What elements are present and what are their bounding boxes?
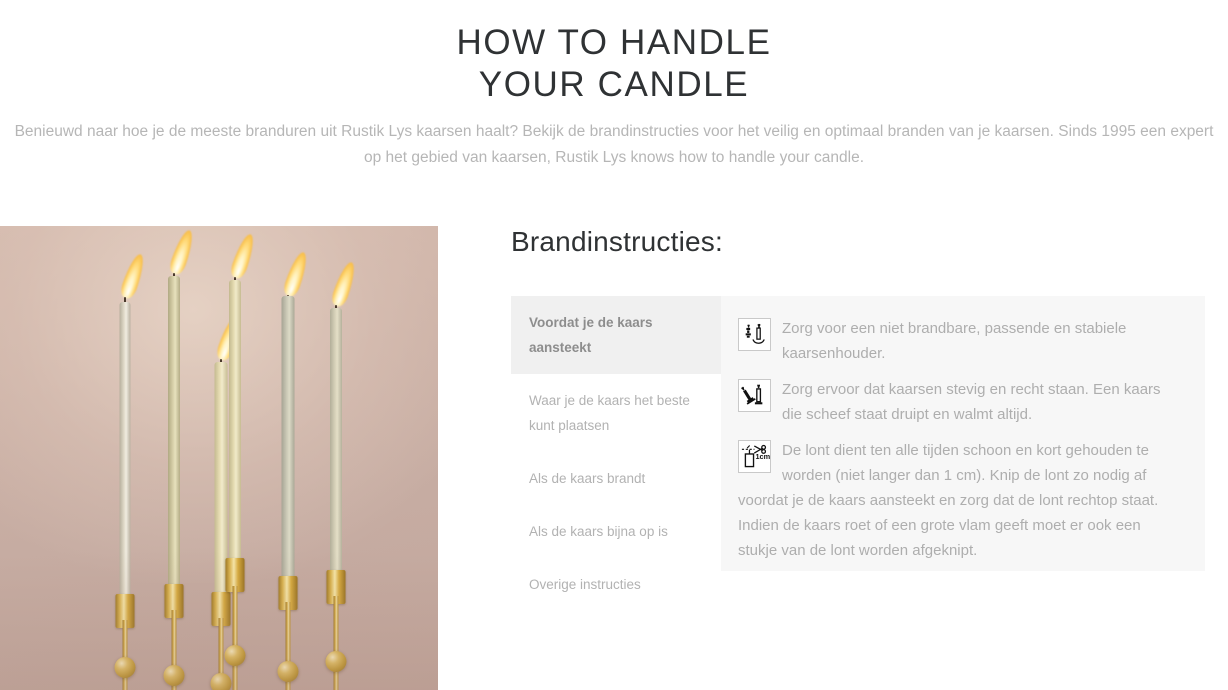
instruction-text: Zorg voor een niet brandbare, passende e…	[782, 320, 1126, 362]
page-title: HOW TO HANDLE YOUR CANDLE	[0, 22, 1228, 106]
candle-upright-not-tilted-icon	[738, 379, 771, 412]
tab-voordat-je-de-kaars-aansteekt[interactable]: Voordat je de kaars aansteekt	[511, 296, 721, 374]
tab-list: Voordat je de kaars aansteekt Waar je de…	[511, 296, 721, 571]
section-title: Brandinstructies:	[511, 226, 723, 258]
candle-wax	[229, 280, 241, 564]
tab-als-de-kaars-brandt[interactable]: Als de kaars brandt	[511, 452, 721, 505]
instruction-item: 1cm De lont dient ten alle tijden schoon…	[738, 438, 1181, 563]
candle-wax	[168, 276, 180, 590]
page-title-line-2: YOUR CANDLE	[0, 64, 1228, 106]
tab-als-de-kaars-bijna-op-is[interactable]: Als de kaars bijna op is	[511, 505, 721, 558]
candle-wax	[282, 296, 295, 582]
brandinstructies-tabs: Voordat je de kaars aansteekt Waar je de…	[511, 296, 1205, 571]
instruction-item: Zorg ervoor dat kaarsen stevig en recht …	[738, 377, 1181, 427]
instruction-text: Zorg ervoor dat kaarsen stevig en recht …	[782, 381, 1161, 423]
candle-holder-stable-icon	[738, 318, 771, 351]
tab-overige-instructies[interactable]: Overige instructies	[511, 558, 721, 611]
trim-wick-scissors-1cm-icon: 1cm	[738, 440, 771, 473]
intro-paragraph: Benieuwd naar hoe je de meeste branduren…	[6, 119, 1222, 171]
wick-length-label: 1cm	[755, 452, 770, 461]
page-title-line-1: HOW TO HANDLE	[0, 22, 1228, 64]
tab-waar-je-de-kaars-het-beste-kunt-plaatsen[interactable]: Waar je de kaars het beste kunt plaatsen	[511, 374, 721, 452]
candle-wax	[330, 308, 342, 576]
photo-bottom-shadow	[0, 551, 438, 690]
instruction-item: Zorg voor een niet brandbare, passende e…	[738, 316, 1181, 366]
candles-photo	[0, 226, 438, 690]
tab-panel-content: Zorg voor een niet brandbare, passende e…	[721, 296, 1205, 571]
instruction-text: De lont dient ten alle tijden schoon en …	[738, 442, 1158, 559]
page-root: HOW TO HANDLE YOUR CANDLE Benieuwd naar …	[0, 0, 1228, 690]
